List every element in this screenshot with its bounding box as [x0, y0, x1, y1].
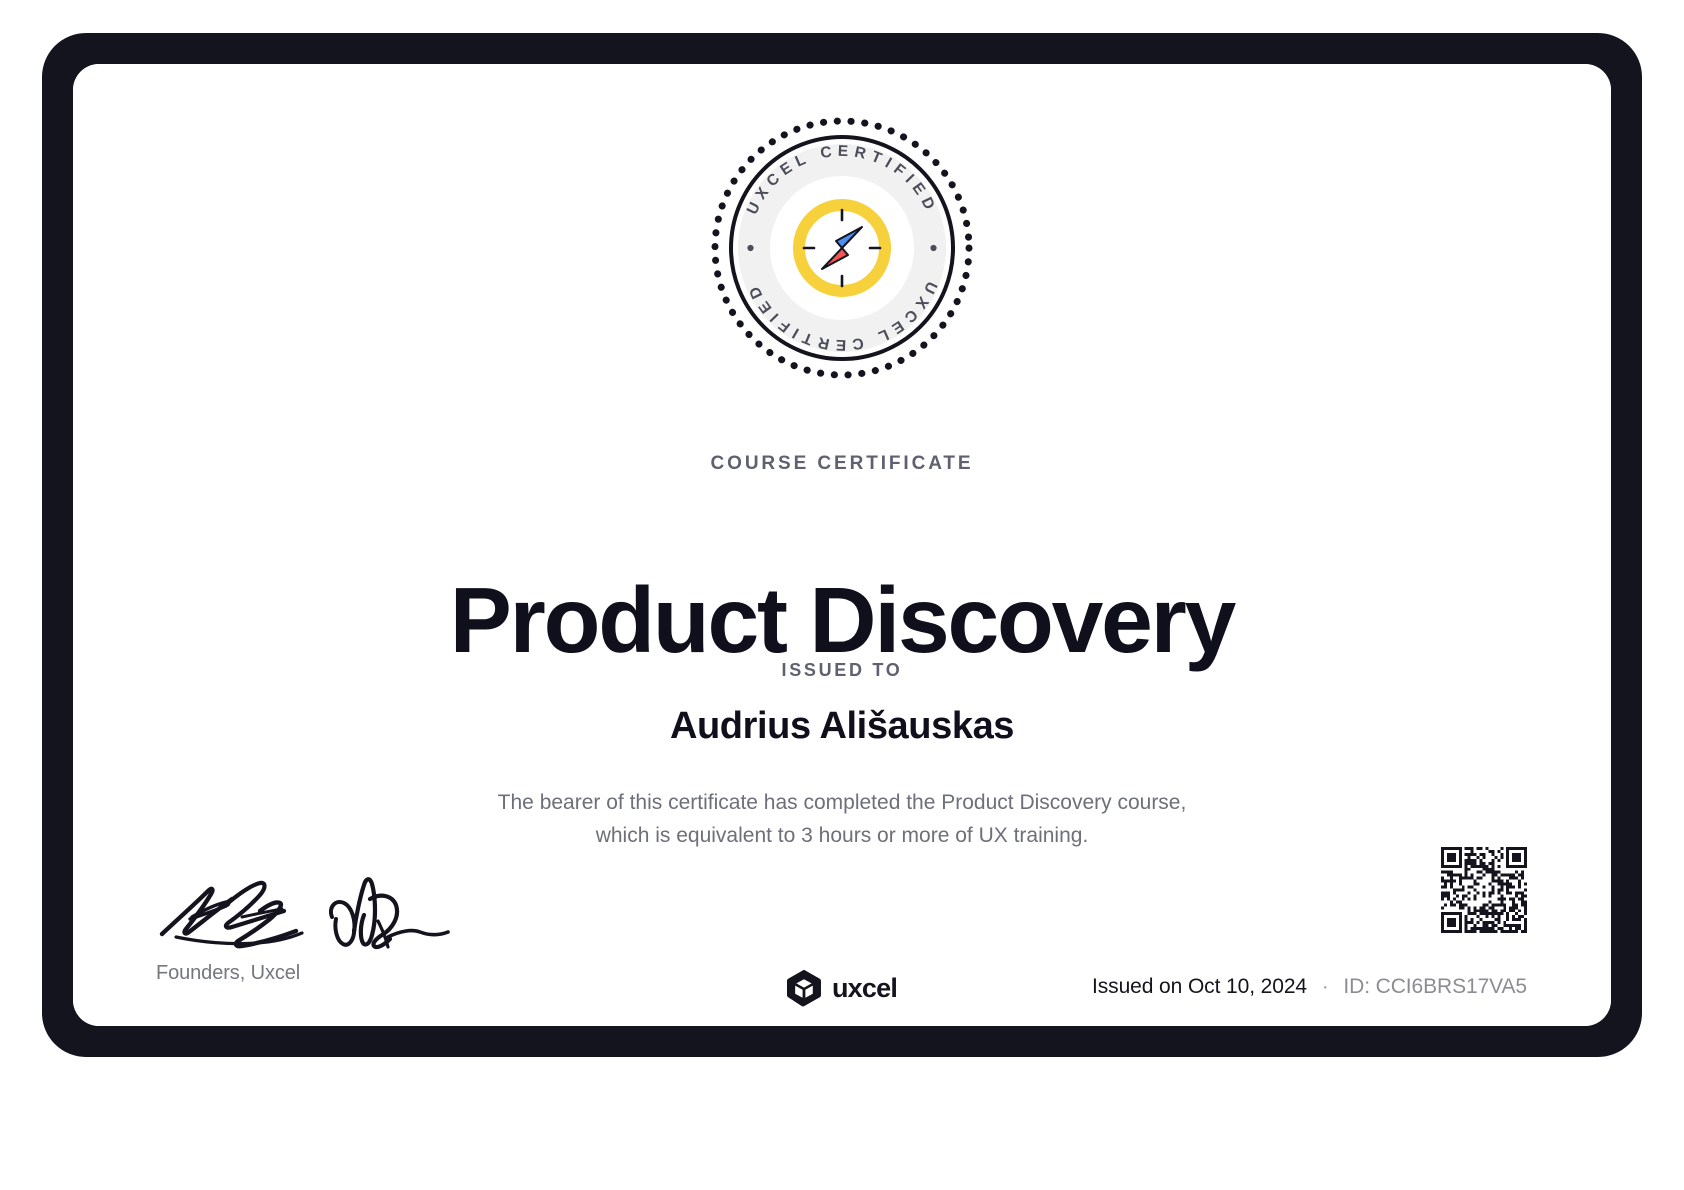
certificate-page: UXCEL CERTIFIED UXCEL CERTIFIED — [73, 64, 1611, 1026]
description-line-1: The bearer of this certificate has compl… — [73, 786, 1611, 819]
recipient-name: Audrius Ališauskas — [73, 702, 1611, 750]
uxcel-wordmark: uxcel — [832, 973, 897, 1004]
issue-separator: · — [1313, 975, 1338, 998]
issue-date: Issued on Oct 10, 2024 — [1092, 975, 1307, 998]
course-certificate-eyebrow: COURSE CERTIFICATE — [73, 453, 1611, 475]
compass-icon — [799, 205, 885, 291]
certification-seal-badge: UXCEL CERTIFIED UXCEL CERTIFIED — [706, 112, 978, 384]
signature-caption: Founders, Uxcel — [156, 962, 486, 985]
uxcel-logo-icon — [787, 969, 821, 1007]
uxcel-brand: uxcel — [787, 969, 897, 1007]
description-line-2: which is equivalent to 3 hours or more o… — [73, 819, 1611, 852]
verification-qr-code[interactable] — [1441, 847, 1527, 933]
issued-to-eyebrow: ISSUED TO — [73, 660, 1611, 681]
certificate-frame: UXCEL CERTIFIED UXCEL CERTIFIED — [42, 33, 1642, 1057]
page-title: Product Discovery — [73, 566, 1611, 674]
certificate-id: ID: CCI6BRS17VA5 — [1343, 975, 1527, 998]
issue-info: Issued on Oct 10, 2024 · ID: CCI6BRS17VA… — [1092, 975, 1527, 999]
certificate-description: The bearer of this certificate has compl… — [73, 786, 1611, 852]
founder-signatures-image — [156, 859, 456, 954]
signature-block: Founders, Uxcel — [156, 859, 486, 985]
certificate-mat: UXCEL CERTIFIED UXCEL CERTIFIED — [73, 64, 1611, 1026]
